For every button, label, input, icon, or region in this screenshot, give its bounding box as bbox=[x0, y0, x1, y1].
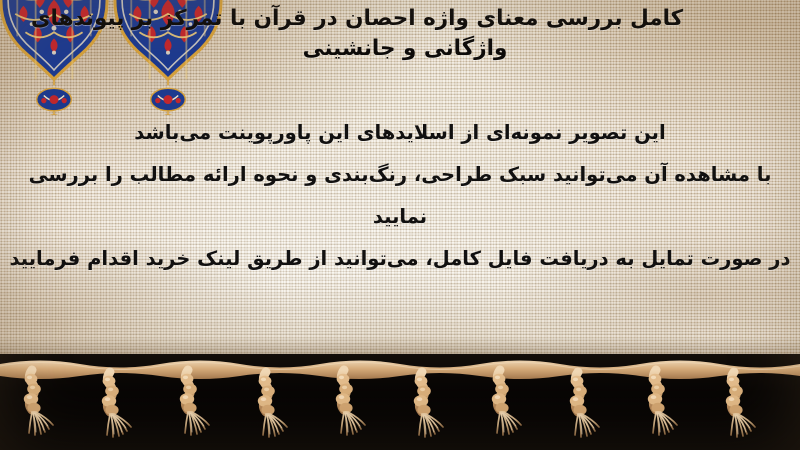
title-line-1: کامل بررسی معنای واژه احصان در قرآن با ت… bbox=[10, 4, 800, 34]
tassel bbox=[102, 372, 131, 437]
tassel bbox=[414, 372, 443, 437]
tassel bbox=[570, 372, 599, 437]
tassel bbox=[336, 370, 365, 435]
slide-title: کامل بررسی معنای واژه احصان در قرآن با ت… bbox=[10, 4, 800, 64]
slide-body: این تصویر نمونه‌ای از اسلایدهای این پاور… bbox=[0, 112, 800, 280]
slide-canvas: کامل بررسی معنای واژه احصان در قرآن با ت… bbox=[0, 0, 800, 450]
tassel bbox=[258, 372, 287, 437]
tassel bbox=[180, 370, 209, 435]
tassel bbox=[492, 370, 521, 435]
body-line-3: در صورت تمایل به دریافت فایل کامل، می‌تو… bbox=[0, 238, 800, 280]
tassel bbox=[24, 370, 53, 435]
tassel bbox=[726, 372, 755, 437]
tassel bbox=[648, 370, 677, 435]
body-line-1: این تصویر نمونه‌ای از اسلایدهای این پاور… bbox=[0, 112, 800, 154]
tassel-row bbox=[24, 370, 755, 437]
carpet-tassel-fringe bbox=[0, 354, 800, 450]
title-line-2: واژگانی و جانشینی bbox=[10, 34, 800, 64]
slide-text-layer: کامل بررسی معنای واژه احصان در قرآن با ت… bbox=[0, 0, 800, 360]
body-line-2: با مشاهده آن می‌توانید سبک طراحی، رنگ‌بن… bbox=[0, 154, 800, 238]
